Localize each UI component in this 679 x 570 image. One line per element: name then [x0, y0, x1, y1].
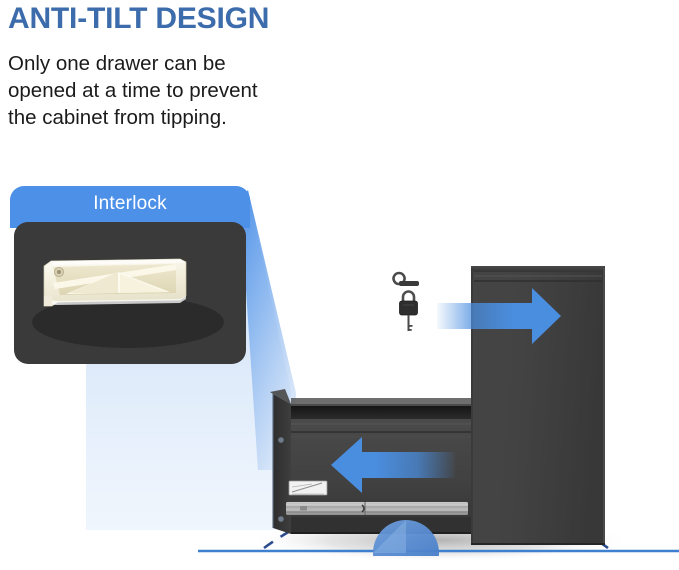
infographic-page: ANTI-TILT DESIGN Only one drawer can be …	[0, 0, 679, 570]
callout-header	[10, 186, 250, 228]
drawer-slide-rail	[286, 502, 468, 515]
illustration-stage	[0, 0, 679, 570]
cabinet-lock	[394, 273, 419, 331]
drawer-cavity	[291, 404, 471, 419]
drawer-screw	[278, 437, 284, 443]
interlock-callout[interactable]	[10, 186, 250, 364]
cabinet-top	[471, 266, 605, 272]
padlock-icon	[400, 301, 418, 315]
drawer-label	[289, 481, 327, 495]
drawer-screw	[278, 516, 284, 522]
